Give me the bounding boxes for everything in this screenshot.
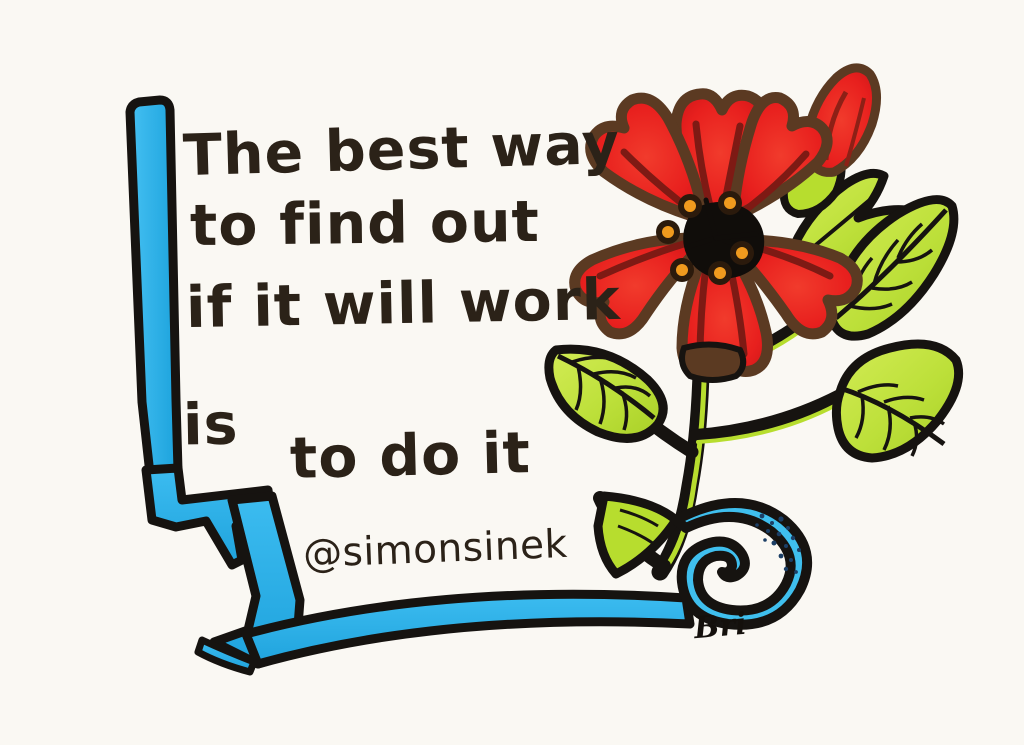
stamen <box>718 191 742 215</box>
flower-calyx <box>682 344 743 380</box>
frame-left-vertical-bar <box>130 100 178 474</box>
stamen <box>656 220 680 244</box>
artist-signature: Bri <box>693 607 748 646</box>
artwork-svg <box>0 0 1024 745</box>
stamen <box>708 261 732 285</box>
petal-left <box>575 238 696 334</box>
stamen <box>730 241 754 265</box>
frame-bottom-ribbon <box>246 594 690 664</box>
veined-leaf-right-lower <box>836 344 958 458</box>
illustration-canvas: The best way to find out if it will work… <box>0 0 1024 745</box>
stamen <box>678 194 702 218</box>
veined-leaf-left <box>549 349 663 438</box>
stamen <box>670 258 694 282</box>
